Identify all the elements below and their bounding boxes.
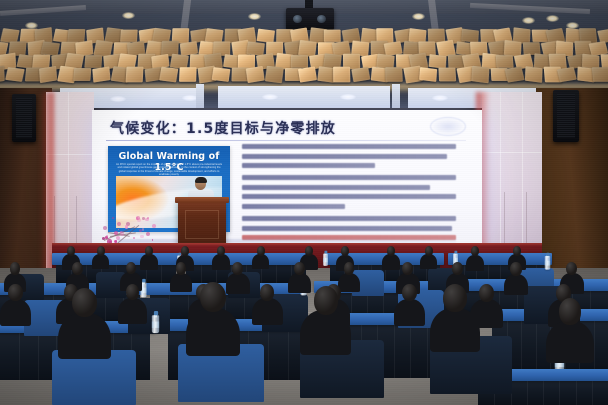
bottle-label xyxy=(323,258,328,262)
bottle-label xyxy=(152,322,159,328)
recessed-downlight xyxy=(412,13,425,20)
ceiling-panel xyxy=(591,67,608,82)
table-pleat xyxy=(276,265,277,284)
audience-shoulders xyxy=(546,321,594,364)
ceiling-panel xyxy=(333,67,350,83)
ceiling-panel xyxy=(73,68,91,81)
blossom-petal xyxy=(142,228,144,230)
audience-member xyxy=(0,284,31,326)
audience-hair-highlight xyxy=(294,262,305,275)
audience-hair-highlight xyxy=(344,262,355,275)
slide-title: 气候变化：1.5度目标与净零排放 xyxy=(110,118,336,138)
ceiling-panel xyxy=(0,66,4,84)
audience-member xyxy=(546,298,594,363)
blossom-petal xyxy=(117,222,121,226)
audience-hair-highlight xyxy=(387,246,395,256)
audience-shoulders xyxy=(394,299,425,327)
recessed-downlight xyxy=(248,13,261,20)
table-pleat xyxy=(19,333,20,380)
ceiling-panel xyxy=(212,67,231,82)
audience-hair-highlight xyxy=(217,246,225,256)
audience-hair-highlight xyxy=(314,286,338,315)
ceiling-panel xyxy=(472,66,490,83)
ceiling-panel xyxy=(67,29,85,42)
table-pleat xyxy=(161,265,162,284)
table-pleat xyxy=(38,333,39,380)
slide-body-line xyxy=(242,226,452,231)
ceiling-panel xyxy=(5,67,25,82)
ceiling-panel xyxy=(39,66,57,83)
bottle-cap xyxy=(153,311,157,315)
blossom-petal xyxy=(106,235,108,237)
audience-member xyxy=(92,246,109,269)
ceiling-panel xyxy=(525,66,543,83)
ceiling-panel xyxy=(265,66,284,83)
audience-shoulders xyxy=(300,310,351,355)
recessed-downlight xyxy=(522,17,535,24)
audience-member xyxy=(394,284,425,326)
audience-hair-highlight xyxy=(510,262,522,276)
ceiling-panel xyxy=(438,68,456,82)
conference-hall-photo: 气候变化：1.5度目标与净零排放 Global Warming of 1.5°C… xyxy=(0,0,608,405)
table-pleat xyxy=(427,325,428,378)
ceiling-panel xyxy=(291,55,308,68)
slide-body-line xyxy=(242,216,456,221)
ceiling-panel xyxy=(85,55,103,68)
blossom-petal xyxy=(103,226,107,230)
table-pleat xyxy=(394,325,395,378)
organization-watermark-icon xyxy=(430,117,466,136)
slide-body-line xyxy=(242,185,430,190)
slide-body-line xyxy=(242,163,375,168)
audience-hair-highlight xyxy=(257,246,265,256)
audience-member xyxy=(186,282,240,356)
audience-hair-highlight xyxy=(145,246,153,256)
bottle-cap xyxy=(454,251,457,254)
audience-shoulders xyxy=(0,299,31,327)
slide-title-rule xyxy=(106,140,466,141)
ceiling-panel xyxy=(351,67,370,82)
wall-mounted-loudspeaker-left xyxy=(12,94,36,142)
bottle-label xyxy=(545,261,551,266)
audience-hair-highlight xyxy=(452,262,463,275)
bottle-cap xyxy=(142,279,146,283)
blossom-petal xyxy=(146,232,150,236)
audience-shoulders xyxy=(58,313,111,360)
blossom-petal xyxy=(112,217,114,219)
ceiling-panel xyxy=(557,67,577,82)
ceiling-panel xyxy=(298,66,317,82)
table-pleat xyxy=(268,331,269,380)
ceiling-panel xyxy=(126,67,144,83)
audience-shoulders xyxy=(420,254,437,269)
recessed-downlight xyxy=(122,12,135,19)
recessed-downlight xyxy=(546,15,559,22)
table-pleat xyxy=(521,321,522,376)
slide-body-line xyxy=(242,204,345,209)
table-pleat xyxy=(288,331,289,380)
ceiling-panel xyxy=(245,66,264,83)
coffered-wood-acoustic-ceiling xyxy=(0,28,608,90)
audience-shoulders xyxy=(252,298,283,325)
audience-hair-highlight xyxy=(67,246,75,256)
blossom-petal xyxy=(140,235,144,239)
table-pleat xyxy=(559,381,560,405)
ceiling-mounted-projector xyxy=(286,8,334,30)
wall-mounted-loudspeaker-right xyxy=(553,90,579,142)
blossom-petal xyxy=(147,217,149,219)
wooden-podium xyxy=(178,200,226,246)
audience-member xyxy=(58,288,111,359)
slide-body-line xyxy=(242,154,447,159)
ceiling-panel xyxy=(429,54,447,69)
audience-shoulders xyxy=(252,254,269,269)
ceiling-panel xyxy=(324,30,341,42)
audience-hair-highlight xyxy=(176,262,187,275)
bottle-cap xyxy=(546,253,549,256)
audience-member xyxy=(504,262,528,295)
audience-hair-highlight xyxy=(10,262,21,275)
audience-shoulders xyxy=(504,274,528,296)
audience-shoulders xyxy=(118,298,147,324)
audience-hair-highlight xyxy=(513,246,521,256)
table-pleat xyxy=(543,381,544,405)
blossom-petal xyxy=(118,229,120,231)
ceiling-panel xyxy=(238,55,255,69)
ceiling-panel xyxy=(419,67,437,82)
ceiling-panel xyxy=(159,67,178,83)
table-pleat xyxy=(527,381,528,405)
audience-hair-highlight xyxy=(72,262,83,275)
slide-body-line xyxy=(242,144,456,149)
audience-hair-highlight xyxy=(72,288,97,317)
audience-member xyxy=(252,246,269,269)
audience-member xyxy=(252,284,283,325)
ceiling-panel xyxy=(496,55,514,68)
ceiling-panel xyxy=(120,30,138,42)
slide-body-line xyxy=(242,175,456,180)
slide-body-text xyxy=(242,144,456,250)
slide-body-line xyxy=(242,194,456,199)
audience-hair-highlight xyxy=(425,246,433,256)
projection-screen: 气候变化：1.5度目标与净零排放 Global Warming of 1.5°C… xyxy=(92,110,482,250)
audience-hair-highlight xyxy=(126,262,136,274)
audience-shoulders xyxy=(430,308,480,352)
blossom-petal xyxy=(152,224,156,228)
table-pleat xyxy=(536,321,537,376)
ceiling-panel xyxy=(385,67,403,82)
audience-shoulders xyxy=(92,254,109,269)
ceiling-panel xyxy=(92,66,110,82)
audience-shoulders xyxy=(140,254,158,270)
audience-member xyxy=(118,284,147,324)
audience-member xyxy=(420,246,437,269)
audience-member xyxy=(430,284,480,352)
table-pleat xyxy=(410,325,411,378)
table-pleat xyxy=(592,381,593,405)
audience-member xyxy=(300,286,351,355)
audience-hair-highlight xyxy=(97,246,105,256)
ceiling-panel xyxy=(504,66,524,82)
cover-subtitle: An IPCC special report on the impacts of… xyxy=(116,163,222,177)
audience-hair-highlight xyxy=(305,246,313,256)
audience-hair-highlight xyxy=(479,284,494,302)
audience-hair-highlight xyxy=(443,284,467,312)
audience-member xyxy=(140,246,158,270)
bottle-cap xyxy=(324,251,327,254)
audience-shoulders xyxy=(186,308,240,356)
ceiling-panel xyxy=(179,67,197,82)
table-pleat xyxy=(576,381,577,405)
